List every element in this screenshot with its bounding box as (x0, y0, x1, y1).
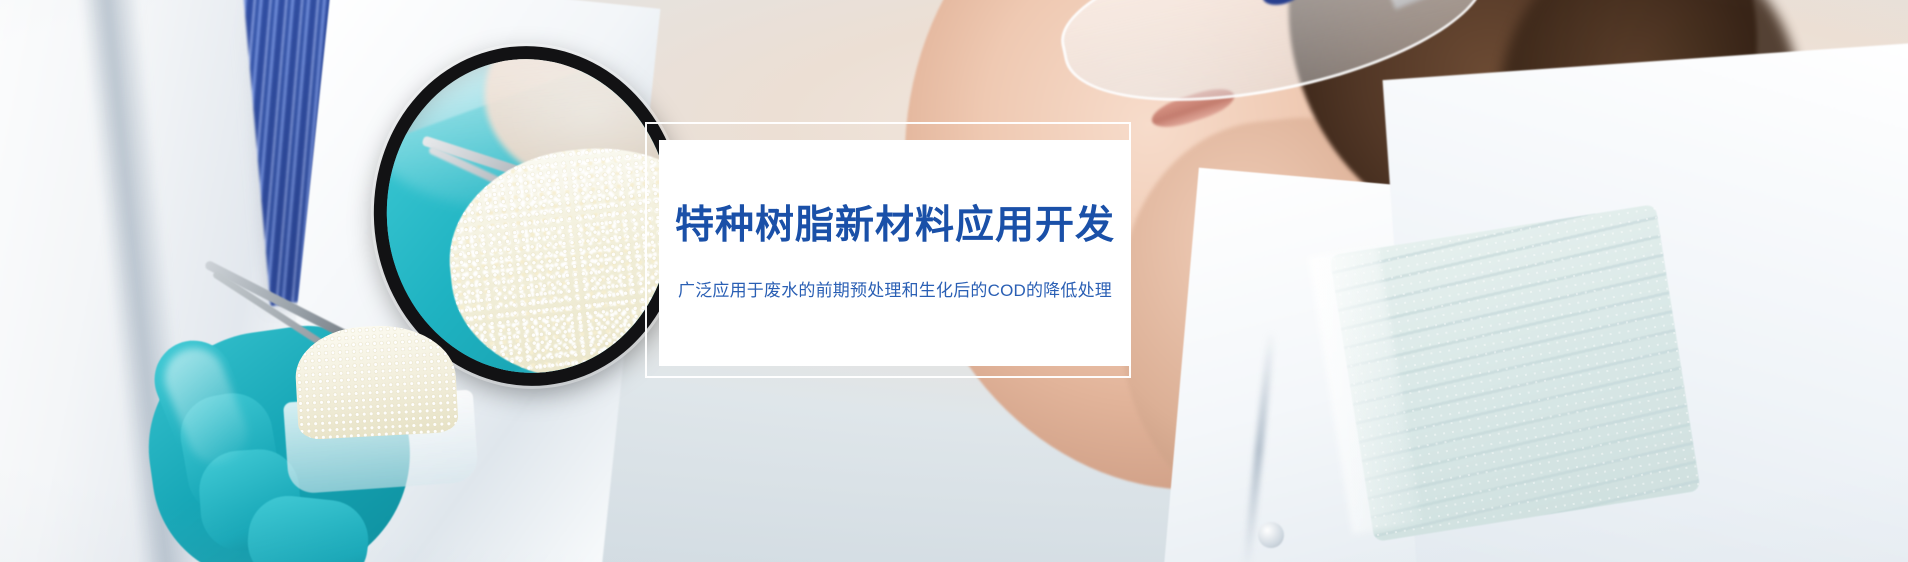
text-card: 特种树脂新材料应用开发 广泛应用于废水的前期预处理和生化后的COD的降低处理 (659, 140, 1131, 366)
banner-title: 特种树脂新材料应用开发 (675, 205, 1115, 248)
promo-banner: 特种树脂新材料应用开发 广泛应用于废水的前期预处理和生化后的COD的降低处理 (0, 0, 1908, 562)
banner-subtitle: 广泛应用于废水的前期预处理和生化后的COD的降低处理 (678, 276, 1112, 301)
